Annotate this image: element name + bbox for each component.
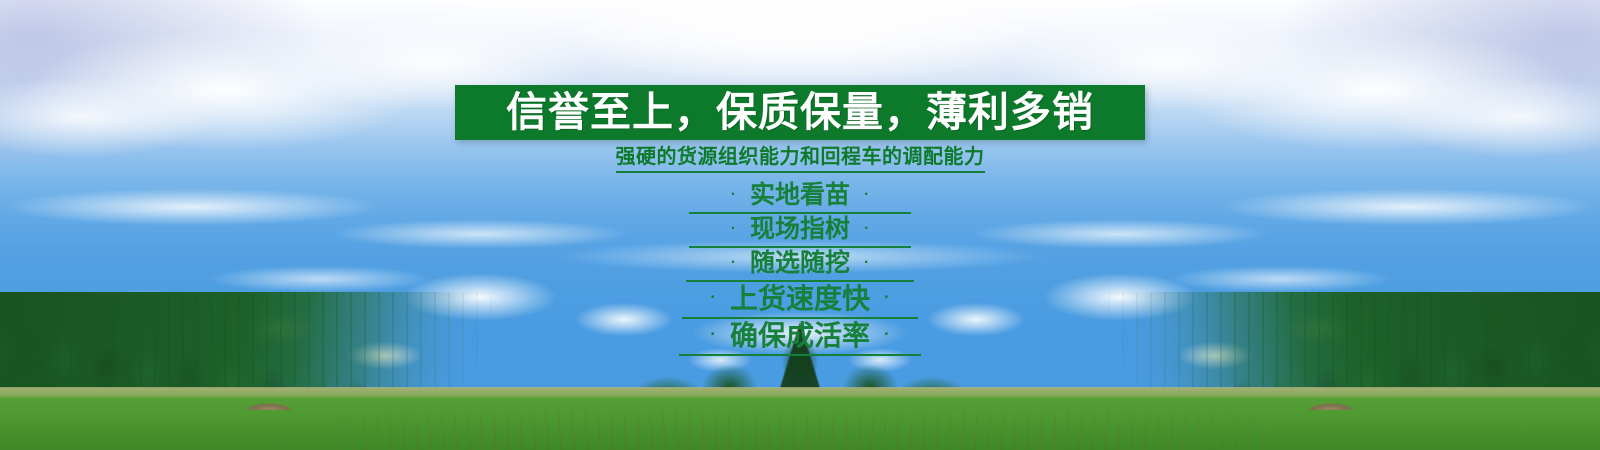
banner-content: 信誉至上，保质保量，薄利多销 强硬的货源组织能力和回程车的调配能力 · 实地看苗… xyxy=(0,0,1600,450)
feature-item: · 随选随挖 · xyxy=(731,251,869,276)
headline-bar: 信誉至上，保质保量，薄利多销 xyxy=(455,85,1145,140)
bullet-dot-icon: · xyxy=(710,289,716,306)
bullet-dot-icon: · xyxy=(864,187,869,203)
feature-item: · 现场指树 · xyxy=(731,217,869,242)
feature-label: 确保成活率 xyxy=(716,322,884,350)
feature-label: 现场指树 xyxy=(736,217,864,242)
feature-label: 上货速度快 xyxy=(716,285,884,313)
feature-label: 随选随挖 xyxy=(736,251,864,276)
feature-item: · 实地看苗 · xyxy=(731,183,869,208)
feature-underline xyxy=(679,354,921,356)
bullet-dot-icon: · xyxy=(864,255,869,271)
bullet-dot-icon: · xyxy=(731,255,736,271)
feature-separator xyxy=(689,212,911,214)
feature-separator xyxy=(689,246,911,248)
bullet-dot-icon: · xyxy=(731,221,736,237)
feature-item: · 确保成活率 · xyxy=(710,322,890,350)
feature-separator xyxy=(682,317,918,319)
subheadline-text: 强硬的货源组织能力和回程车的调配能力 xyxy=(616,147,985,173)
feature-list: · 实地看苗 · · 现场指树 · · 随选随挖 · · 上货速度快 · xyxy=(679,183,921,359)
headline-text: 信誉至上，保质保量，薄利多销 xyxy=(506,92,1094,133)
feature-item: · 上货速度快 · xyxy=(710,285,890,313)
bullet-dot-icon: · xyxy=(710,326,716,343)
bullet-dot-icon: · xyxy=(884,289,890,306)
feature-separator xyxy=(686,280,914,282)
feature-label: 实地看苗 xyxy=(736,183,864,208)
bullet-dot-icon: · xyxy=(884,326,890,343)
bullet-dot-icon: · xyxy=(731,187,736,203)
bullet-dot-icon: · xyxy=(864,221,869,237)
promo-banner: 信誉至上，保质保量，薄利多销 强硬的货源组织能力和回程车的调配能力 · 实地看苗… xyxy=(0,0,1600,450)
